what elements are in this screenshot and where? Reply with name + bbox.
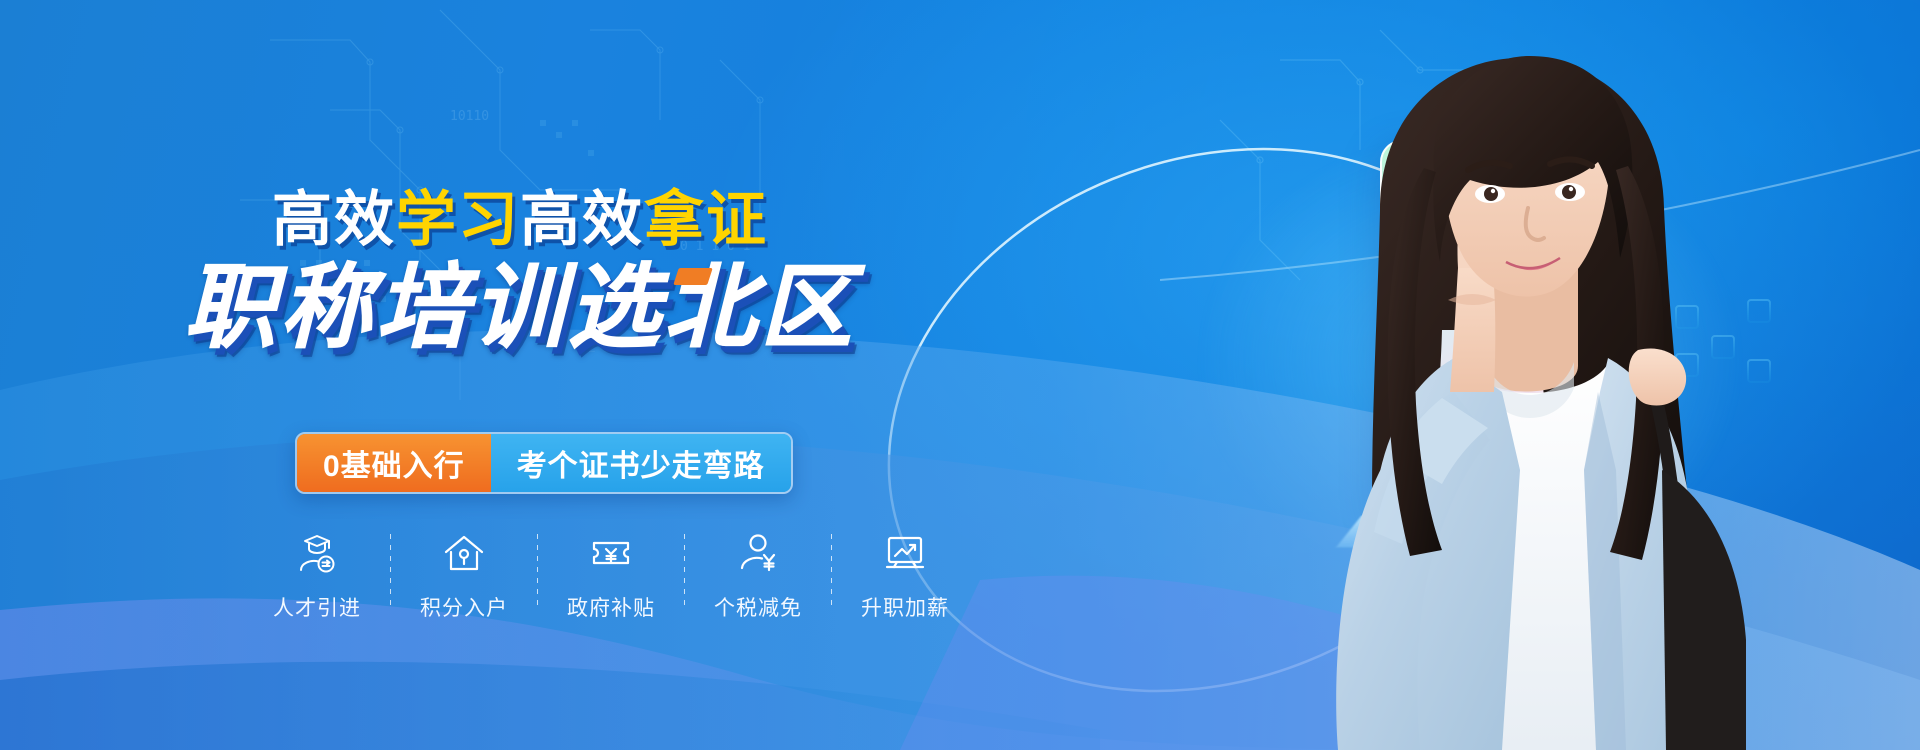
- ticket-yuan-icon: [589, 530, 633, 576]
- feature-item-gov-subsidy[interactable]: 政府补贴: [544, 530, 678, 622]
- headline: 高效学习高效拿证: [0, 190, 1040, 250]
- subject-graphic: [1050, 0, 1920, 750]
- badge-left-label: 0基础入行: [297, 434, 491, 492]
- feature-divider: [684, 534, 685, 608]
- headline-seg-4-highlight: 拿证: [644, 186, 768, 253]
- feature-divider: [831, 534, 832, 608]
- banner-content: 高效学习高效拿证 职称培训选北区 0基础入行 考个证书少走弯路: [0, 0, 1100, 750]
- headline-seg-3: 高效: [520, 186, 644, 253]
- chart-rise-icon: [883, 530, 927, 576]
- feature-item-talent-intro[interactable]: 人才引进: [250, 530, 384, 622]
- house-pin-icon: [442, 530, 486, 576]
- badge-right-label: 考个证书少走弯路: [491, 434, 791, 492]
- feature-label: 升职加薪: [861, 592, 949, 622]
- title-accent-mark-icon: [673, 268, 713, 285]
- feature-label: 政府补贴: [567, 592, 655, 622]
- headline-seg-1: 高效: [272, 186, 396, 253]
- feature-label: 人才引进: [273, 592, 361, 622]
- main-title: 职称培训选北区: [0, 262, 1040, 354]
- feature-label: 个税减免: [714, 592, 802, 622]
- feature-label: 积分入户: [420, 592, 508, 622]
- graduate-person-icon: [295, 530, 339, 576]
- feature-divider: [537, 534, 538, 608]
- feature-list: 人才引进 积分入户: [250, 530, 972, 622]
- feature-divider: [390, 534, 391, 608]
- tagline-badge: 0基础入行 考个证书少走弯路: [295, 432, 793, 494]
- promo-banner: 2 3 9 10110 0 1 1 0 1: [0, 0, 1920, 750]
- person-yuan-icon: [736, 530, 780, 576]
- instructor-photo: [1050, 0, 1920, 750]
- feature-item-promotion-raise[interactable]: 升职加薪: [838, 530, 972, 622]
- feature-item-points-residency[interactable]: 积分入户: [397, 530, 531, 622]
- headline-seg-2-highlight: 学习: [396, 186, 520, 253]
- feature-item-tax-reduction[interactable]: 个税减免: [691, 530, 825, 622]
